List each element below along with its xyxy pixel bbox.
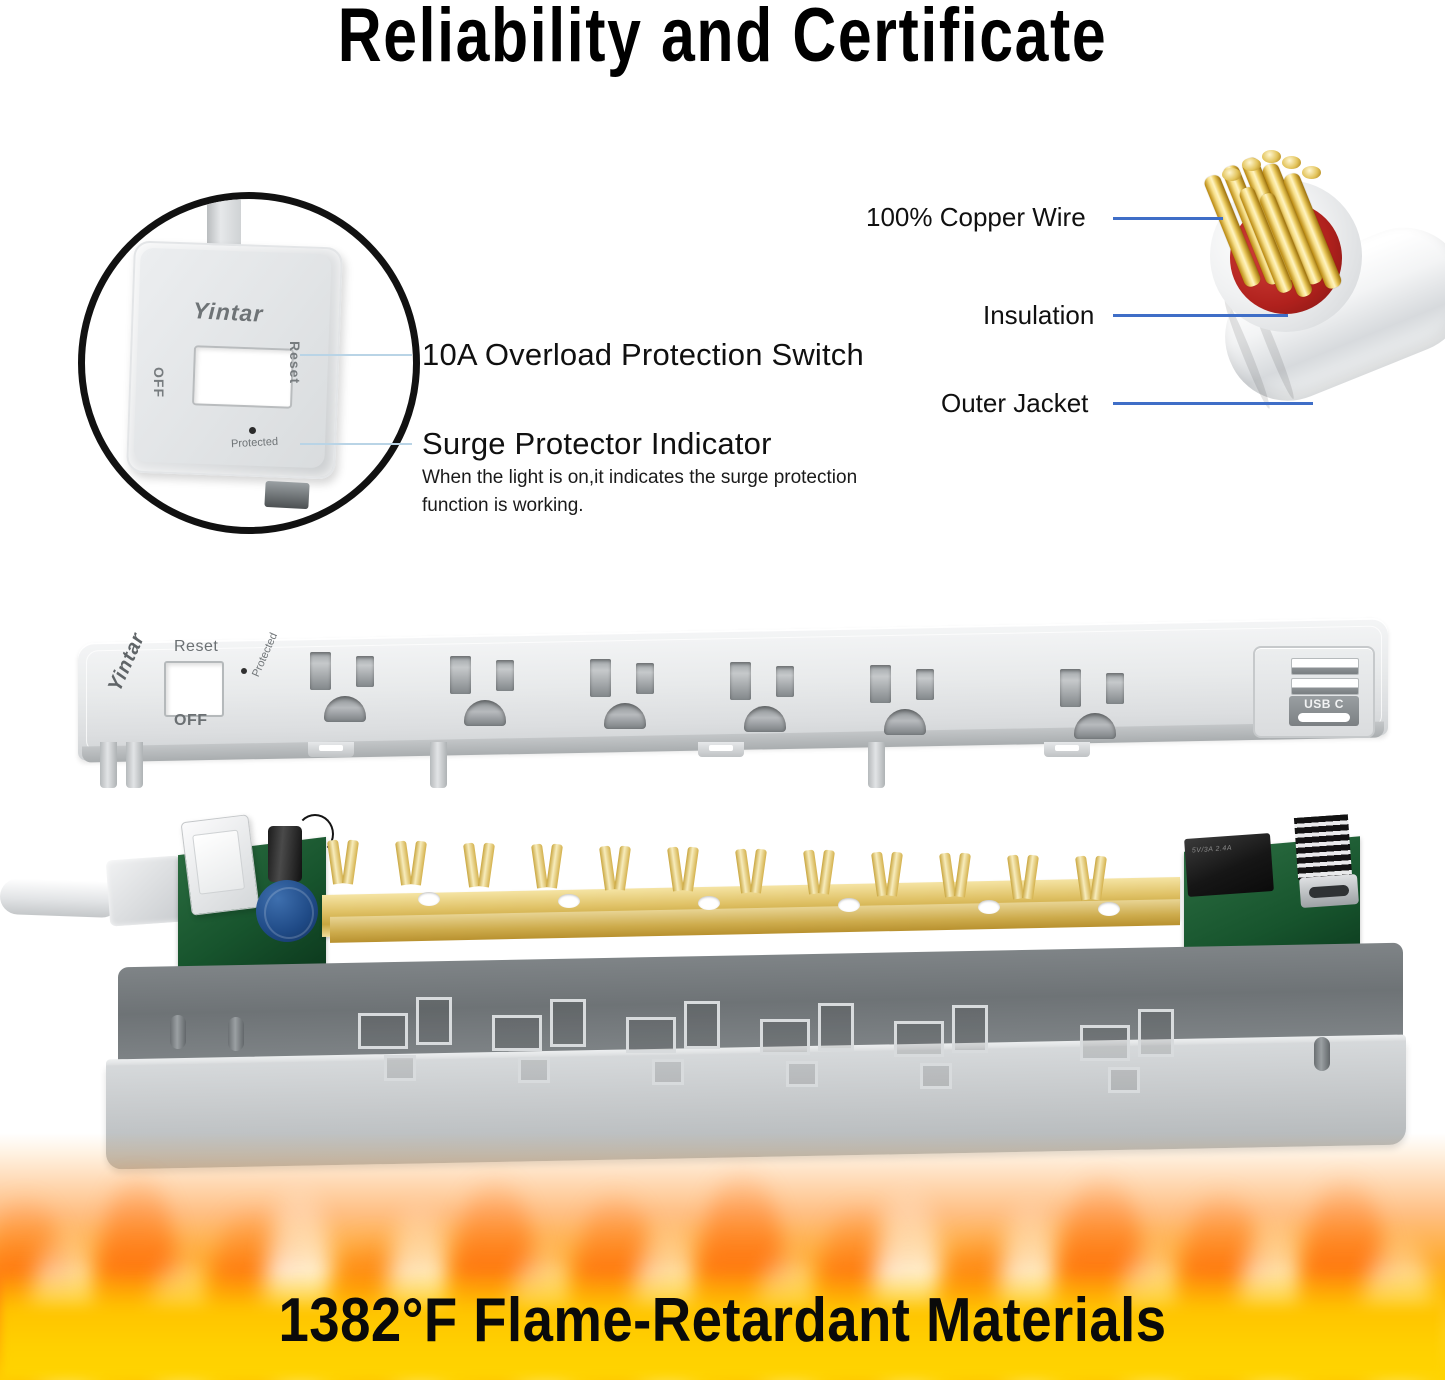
busbar-contact-4 (534, 844, 564, 892)
busbar-contact-12 (1078, 856, 1108, 904)
page-title: Reliability and Certificate (145, 0, 1301, 76)
strip-leg-2 (126, 742, 143, 788)
callout-insulation-label: Insulation (983, 300, 1094, 331)
busbar-contact-5 (602, 846, 632, 894)
power-strip-top-shell: Yintar Reset OFF Protected Smart 3A Tota… (78, 630, 1408, 795)
socket-well-3a (626, 1017, 676, 1053)
outlet-6[interactable] (1046, 669, 1156, 739)
busbar-hole-3 (698, 896, 720, 910)
strip-clip-2 (698, 742, 744, 757)
usb-c-label: USB C (1289, 697, 1359, 711)
housing-screw-post-2 (228, 1017, 244, 1051)
socket-well-6a (1080, 1025, 1130, 1061)
ground-well-1 (384, 1055, 416, 1081)
callout-jacket-label: Outer Jacket (941, 388, 1088, 419)
busbar-contact-2 (398, 841, 428, 889)
socket-well-3b (684, 1001, 720, 1049)
outlet-3[interactable] (576, 659, 686, 729)
leader-line-surge (300, 443, 412, 445)
magnified-brand-label: Yintar (192, 297, 264, 328)
cable-cutaway-illustration (1158, 150, 1445, 460)
socket-well-5a (894, 1021, 944, 1057)
busbar-contact-1 (330, 840, 360, 888)
strip-leg-3 (430, 742, 447, 788)
busbar-contact-11 (1010, 855, 1040, 903)
magnified-off-label: OFF (151, 367, 167, 398)
usb-c-slot (1298, 713, 1350, 722)
strip-leg-1 (100, 742, 117, 788)
overload-protection-switch[interactable] (164, 661, 224, 717)
outlet-5[interactable] (856, 665, 966, 735)
ground-well-3 (652, 1059, 684, 1085)
power-strip-bottom-housing (118, 955, 1413, 1155)
ground-well-2 (518, 1057, 550, 1083)
heatsink (1294, 814, 1352, 880)
usb-connector-block: 5V/3A 2.4A (1184, 833, 1274, 897)
strip-leg-4 (868, 742, 885, 788)
strip-reset-label: Reset (174, 638, 218, 656)
socket-well-5b (952, 1005, 988, 1053)
socket-well-6b (1138, 1009, 1174, 1057)
usb-c-port[interactable]: USB C (1289, 696, 1359, 726)
socket-well-2b (550, 999, 586, 1047)
leader-line-overload (300, 354, 412, 356)
usb-port-panel: USB C (1253, 646, 1375, 738)
busbar-contact-7 (738, 849, 768, 897)
busbar-contact-9 (874, 852, 904, 900)
outlet-4[interactable] (716, 662, 826, 732)
busbar-contact-6 (670, 847, 700, 895)
usb-module-rating-label: 5V/3A 2.4A (1192, 843, 1256, 855)
magnified-reset-label: Reset (287, 341, 303, 384)
busbar-hole-5 (978, 900, 1000, 914)
busbar-hole-6 (1098, 902, 1120, 916)
busbar-contact-10 (942, 853, 972, 901)
callout-surge-description: When the light is on,it indicates the su… (422, 464, 872, 519)
callout-copper-label: 100% Copper Wire (866, 202, 1086, 233)
socket-well-1b (416, 997, 452, 1045)
strip-clip-1 (308, 742, 354, 757)
socket-well-4b (818, 1003, 854, 1051)
magnified-protected-label: Protected (231, 436, 279, 450)
leader-line-jacket (1113, 402, 1313, 405)
ground-well-5 (920, 1063, 952, 1089)
power-cord (0, 878, 121, 918)
surge-protector-led (241, 668, 247, 674)
outlet-1[interactable] (296, 652, 406, 722)
leader-line-copper (1113, 217, 1223, 220)
busbar-hole-4 (838, 898, 860, 912)
ground-well-6 (1108, 1067, 1140, 1093)
socket-well-1a (358, 1013, 408, 1049)
callout-overload-title: 10A Overload Protection Switch (422, 337, 864, 373)
magnified-overload-switch[interactable] (192, 345, 294, 408)
magnified-foot (264, 481, 309, 509)
magnified-switch-detail: Yintar Reset OFF Protected (78, 192, 420, 534)
usb-c-connector (1299, 874, 1359, 908)
strip-clip-3 (1044, 742, 1090, 757)
busbar-hole-1 (418, 892, 440, 906)
busbar-contact-8 (806, 850, 836, 898)
leader-line-insulation (1113, 314, 1288, 317)
magnified-protected-led (249, 427, 256, 434)
outlet-2[interactable] (436, 656, 546, 726)
strip-off-label: OFF (174, 712, 208, 730)
usb-a-port-1[interactable] (1291, 658, 1359, 675)
circuit-breaker-module (181, 814, 260, 916)
usb-a-port-2[interactable] (1291, 678, 1359, 695)
busbar-hole-2 (558, 894, 580, 908)
socket-well-4a (760, 1019, 810, 1055)
surge-varistor-mov (256, 880, 318, 942)
flame-banner-text: 1382°F Flame-Retardant Materials (87, 1285, 1359, 1356)
socket-well-2a (492, 1015, 542, 1051)
cord-strain-relief (106, 855, 184, 926)
callout-surge-title: Surge Protector Indicator (422, 426, 772, 462)
housing-screw-post-1 (170, 1015, 186, 1049)
ground-well-4 (786, 1061, 818, 1087)
busbar-contact-3 (466, 843, 496, 891)
housing-screw-post-3 (1314, 1037, 1330, 1071)
